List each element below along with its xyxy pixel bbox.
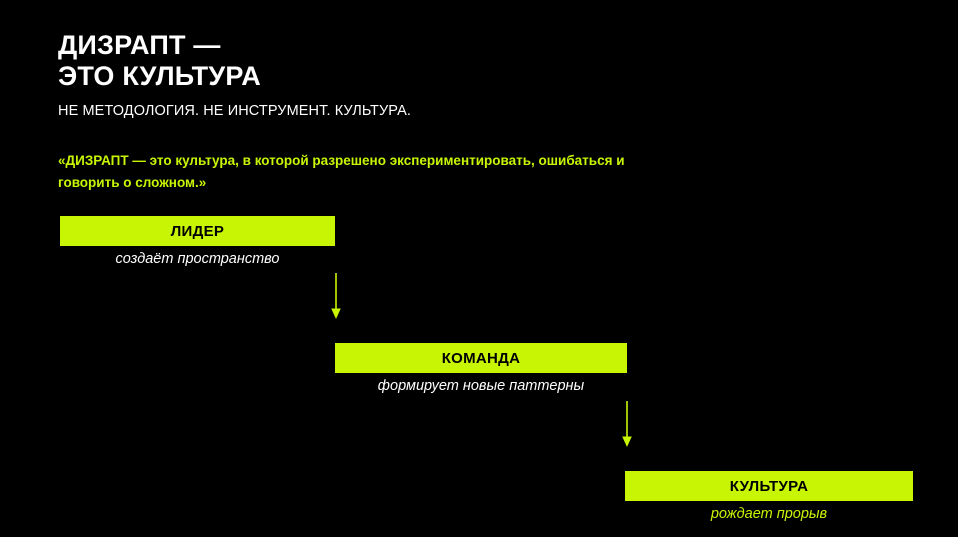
flow-step-culture-caption: рождает прорыв — [625, 506, 913, 522]
slide-canvas: ДИЗРАПТ — ЭТО КУЛЬТУРА НЕ МЕТОДОЛОГИЯ. Н… — [0, 0, 958, 537]
flow-step-team: КОМАНДА — [335, 343, 627, 373]
flow-step-culture-label: КУЛЬТУРА — [730, 478, 809, 495]
arrow-down-icon — [613, 401, 641, 449]
flow-step-leader-label: ЛИДЕР — [171, 223, 225, 240]
page-subtitle: НЕ МЕТОДОЛОГИЯ. НЕ ИНСТРУМЕНТ. КУЛЬТУРА. — [58, 103, 758, 119]
page-title-line-2: ЭТО КУЛЬТУРА — [58, 61, 758, 92]
title-block: ДИЗРАПТ — ЭТО КУЛЬТУРА НЕ МЕТОДОЛОГИЯ. Н… — [58, 30, 758, 119]
flow-step-culture: КУЛЬТУРА — [625, 471, 913, 501]
quote-text: «ДИЗРАПТ — это культура, в которой разре… — [58, 150, 678, 194]
flow-step-leader: ЛИДЕР — [60, 216, 335, 246]
flow-step-leader-caption: создаёт пространство — [60, 251, 335, 267]
flow-step-team-caption: формирует новые паттерны — [335, 378, 627, 394]
flow-step-team-label: КОМАНДА — [442, 350, 521, 367]
page-title-line-1: ДИЗРАПТ — — [58, 30, 758, 61]
arrow-down-icon — [322, 273, 350, 321]
